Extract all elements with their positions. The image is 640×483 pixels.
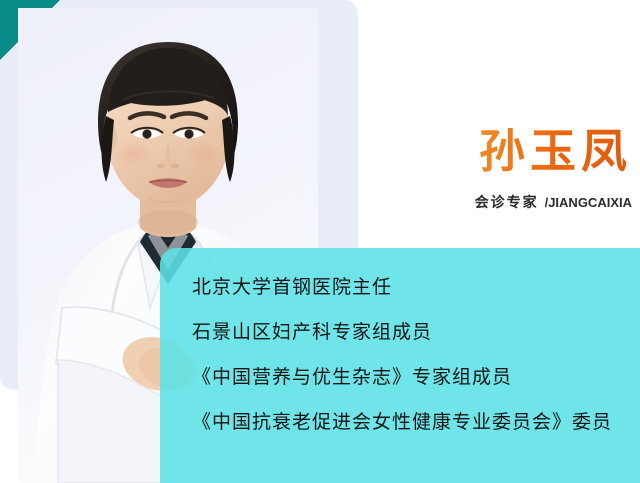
credential-item: 《中国营养与优生杂志》专家组成员 (192, 368, 640, 387)
credential-item: 《中国抗衰老促进会女性健康专业委员会》委员 (192, 413, 640, 432)
doctor-profile-card: 孙玉凤 会诊专家/JIANGCAIXIA 北京大学首钢医院主任 石景山区妇产科专… (0, 0, 640, 483)
credential-item: 北京大学首钢医院主任 (192, 278, 640, 297)
doctor-name-block: 孙玉凤 会诊专家/JIANGCAIXIA (400, 128, 632, 212)
credentials-panel: 北京大学首钢医院主任 石景山区妇产科专家组成员 《中国营养与优生杂志》专家组成员… (160, 248, 640, 483)
doctor-role: 会诊专家 (475, 194, 539, 210)
credential-item: 石景山区妇产科专家组成员 (192, 323, 640, 342)
doctor-role-line: 会诊专家/JIANGCAIXIA (400, 192, 632, 212)
doctor-name: 孙玉凤 (400, 128, 632, 176)
doctor-name-pinyin: /JIANGCAIXIA (545, 195, 632, 210)
